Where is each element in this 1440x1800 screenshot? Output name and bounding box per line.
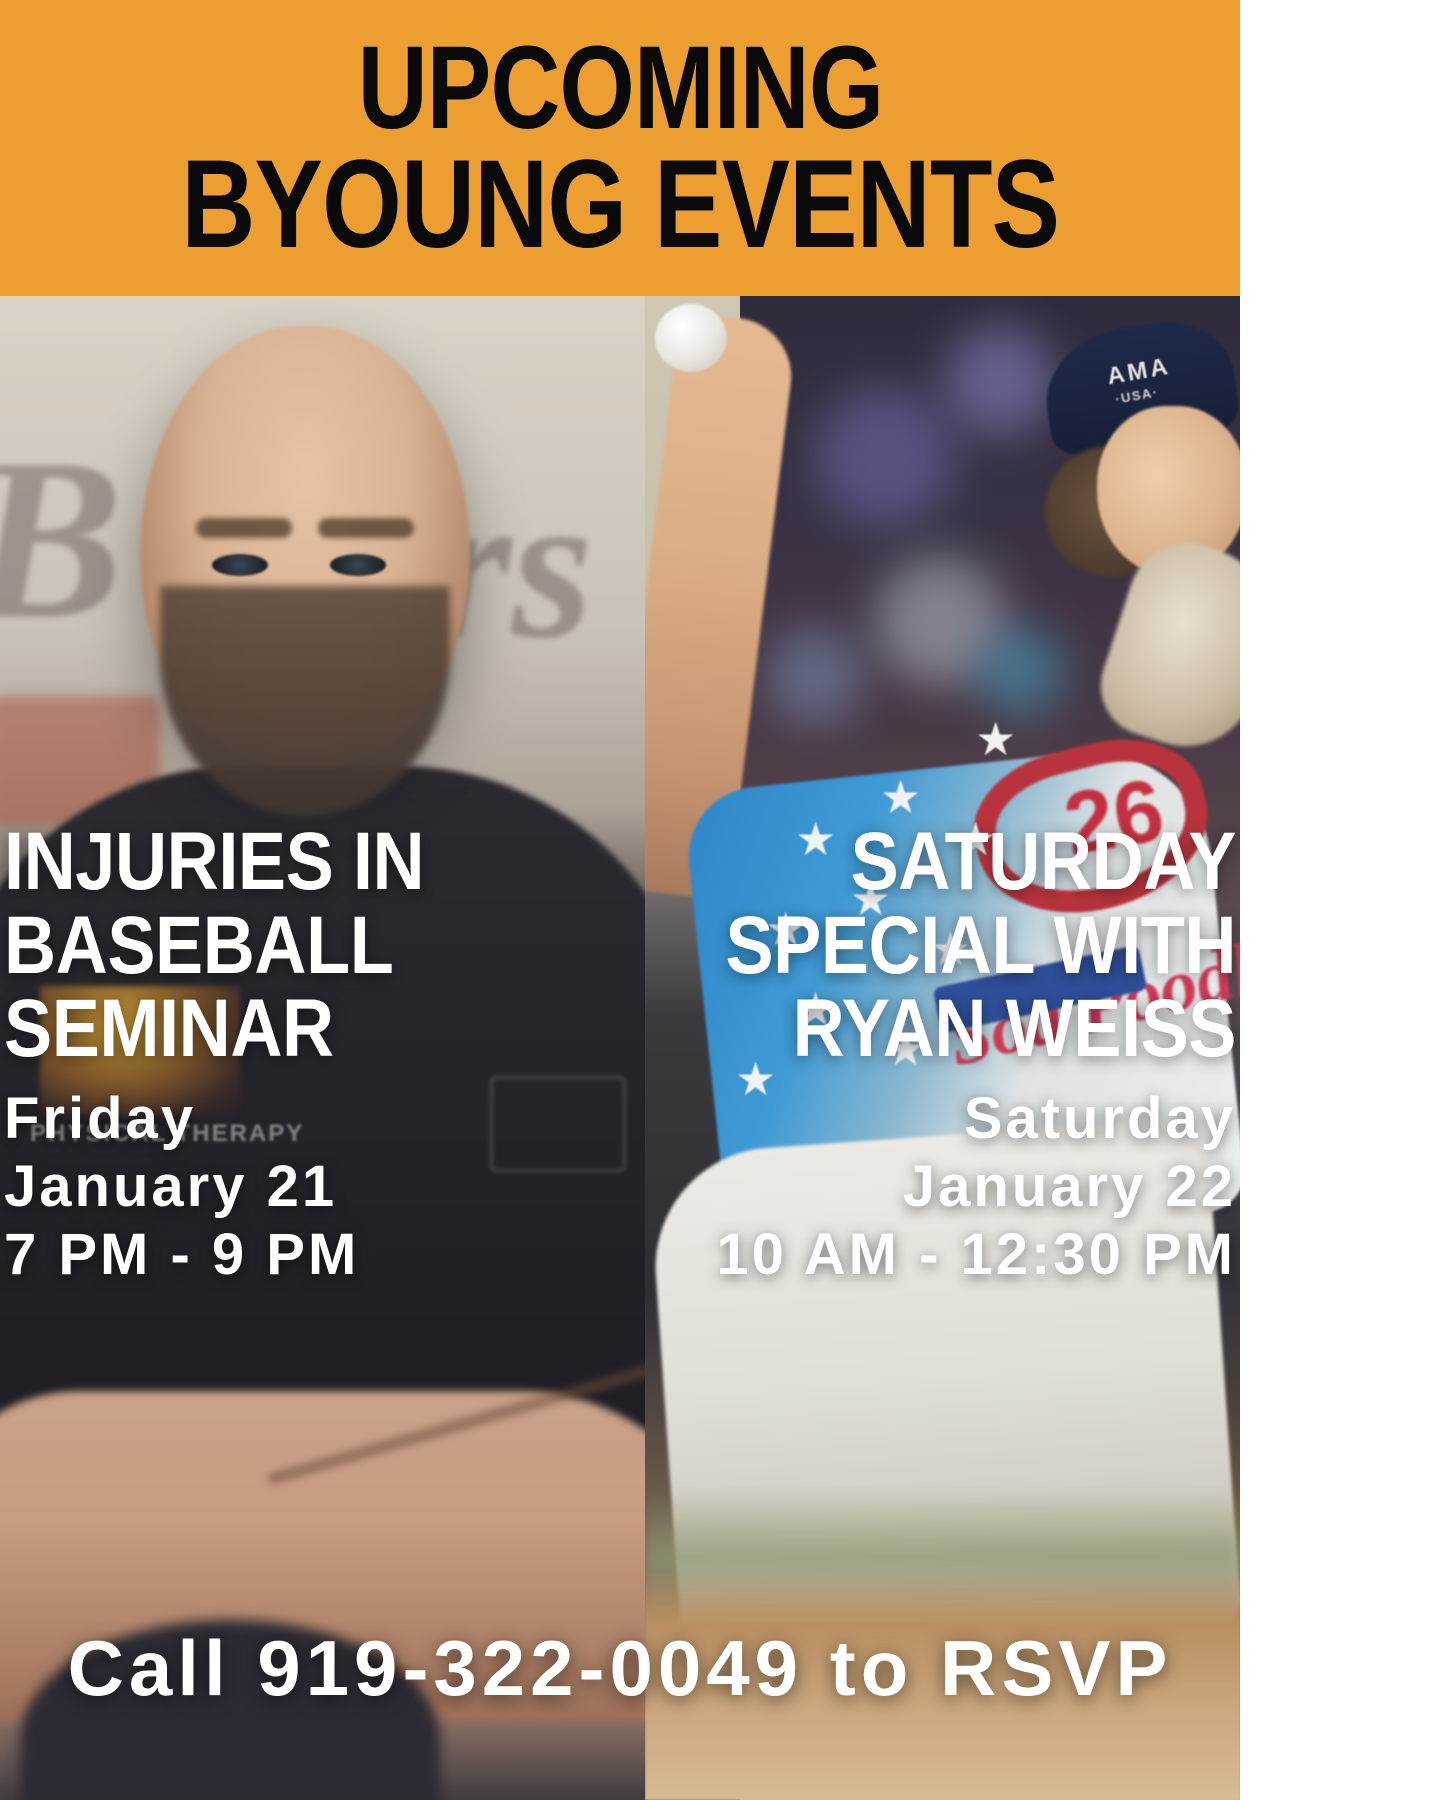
event-left-title: INJURIES IN BASEBALL SEMINAR xyxy=(4,820,567,1071)
event-poster: B rs PHYSICAL THERAPY xyxy=(0,0,1240,1800)
event-right-title-line-2: SPECIAL WITH xyxy=(673,904,1236,988)
subject-eye-right xyxy=(330,554,386,576)
event-right-title-line-3: RYAN WEISS xyxy=(673,987,1236,1071)
jersey-star-icon: ★ xyxy=(975,716,1016,762)
bokeh-light-5 xyxy=(975,626,1065,716)
subject-brow-right xyxy=(318,518,414,538)
event-left-schedule: Friday January 21 7 PM - 9 PM xyxy=(4,1085,644,1289)
event-right-title: SATURDAY SPECIAL WITH RYAN WEISS xyxy=(673,820,1236,1071)
event-right-schedule: Saturday January 22 10 AM - 12:30 PM xyxy=(596,1085,1236,1289)
event-right-title-line-1: SATURDAY xyxy=(673,820,1236,904)
event-block-left: INJURIES IN BASEBALL SEMINAR Friday Janu… xyxy=(4,820,644,1288)
event-right-day: Saturday xyxy=(596,1085,1236,1153)
event-left-title-line-2: BASEBALL xyxy=(4,904,567,988)
bokeh-light-1 xyxy=(815,386,955,526)
event-right-date: January 22 xyxy=(596,1153,1236,1221)
event-block-right: SATURDAY SPECIAL WITH RYAN WEISS Saturda… xyxy=(596,820,1236,1288)
poster-header-band: UPCOMING BYOUNG EVENTS xyxy=(0,0,1240,296)
event-left-title-line-3: SEMINAR xyxy=(4,987,567,1071)
rsvp-call-to-action[interactable]: Call 919-322-0049 to RSVP xyxy=(0,1626,1240,1712)
subject-brow-left xyxy=(196,518,292,538)
event-right-time: 10 AM - 12:30 PM xyxy=(596,1221,1236,1289)
jersey-star-icon: ★ xyxy=(880,774,921,820)
event-left-title-line-1: INJURIES IN xyxy=(4,820,567,904)
bokeh-light-4 xyxy=(765,626,865,726)
event-left-date: January 21 xyxy=(4,1153,644,1221)
header-title-line-1: UPCOMING xyxy=(357,34,883,143)
header-title-line-2: BYOUNG EVENTS xyxy=(181,147,1059,262)
event-left-time: 7 PM - 9 PM xyxy=(4,1221,644,1289)
event-left-day: Friday xyxy=(4,1085,644,1153)
bokeh-light-2 xyxy=(945,326,1055,436)
baseball xyxy=(655,304,727,372)
subject-eye-left xyxy=(212,554,268,576)
